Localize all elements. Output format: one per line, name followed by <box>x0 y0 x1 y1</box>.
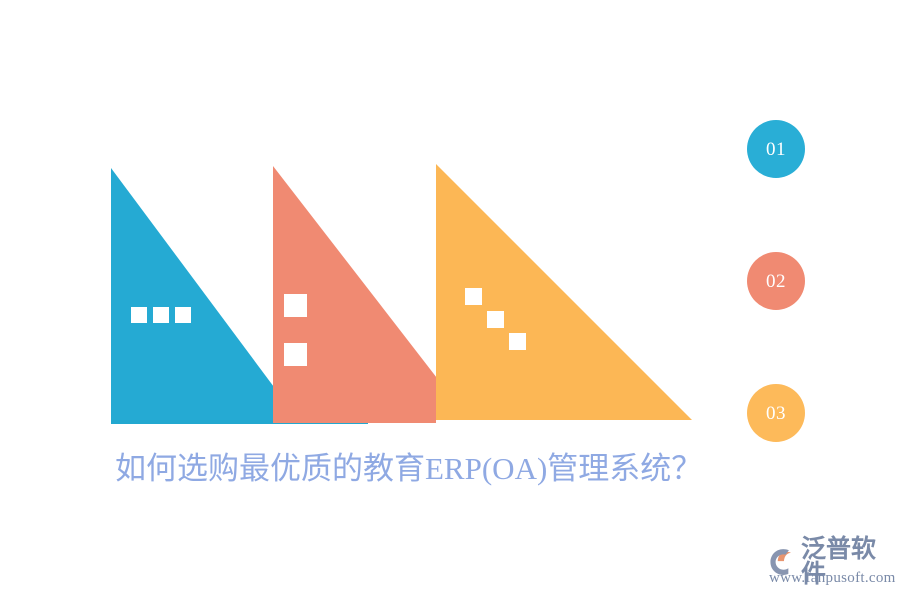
step-circle-02-label: 02 <box>766 272 786 291</box>
blue-square-marker-3 <box>175 307 191 323</box>
slide-canvas: 01 02 03 如何选购最优质的教育ERP(OA)管理系统？ 泛普软件 www… <box>0 0 900 600</box>
step-circle-03-label: 03 <box>766 404 786 423</box>
blue-square-marker-2 <box>153 307 169 323</box>
blue-square-marker-1 <box>131 307 147 323</box>
orange-square-marker-1 <box>465 288 482 305</box>
step-circle-02[interactable]: 02 <box>747 252 805 310</box>
step-circle-01[interactable]: 01 <box>747 120 805 178</box>
page-title: 如何选购最优质的教育ERP(OA)管理系统？ <box>115 443 735 488</box>
brand-url: www.fanpusoft.com <box>769 570 896 587</box>
blue-block-shape <box>111 168 276 420</box>
orange-square-marker-2 <box>487 311 504 328</box>
step-circle-01-label: 01 <box>766 140 786 159</box>
salmon-square-marker-1 <box>284 294 307 317</box>
step-circle-03[interactable]: 03 <box>747 384 805 442</box>
step-number-column: 01 02 03 <box>747 0 817 600</box>
orange-square-marker-3 <box>509 333 526 350</box>
brand-logo: 泛普软件 www.fanpusoft.com <box>768 537 894 593</box>
salmon-square-marker-2 <box>284 343 307 366</box>
